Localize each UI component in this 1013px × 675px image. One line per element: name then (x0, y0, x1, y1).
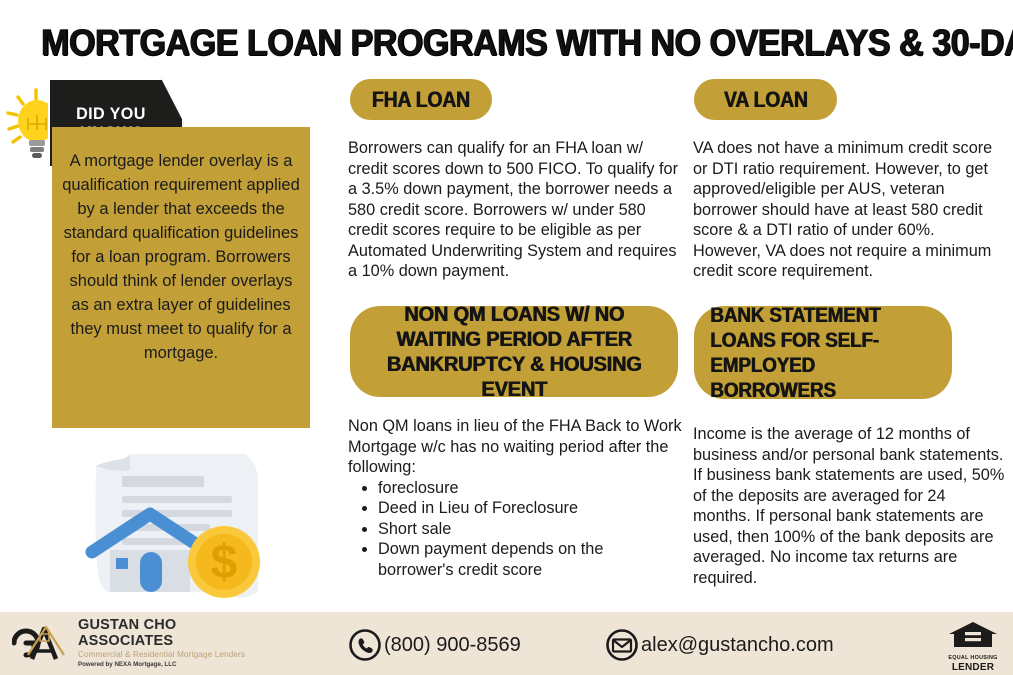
equal-housing-lender-icon (946, 620, 1000, 650)
section-body-nonqm-bullets: foreclosure Deed in Lieu of Foreclosure … (348, 478, 682, 581)
company-tagline: Commercial & Residential Mortgage Lender… (78, 649, 252, 660)
infographic-page: MORTGAGE LOAN PROGRAMS WITH NO OVERLAYS … (0, 0, 1013, 675)
company-name: GUSTAN CHO ASSOCIATES (78, 617, 252, 649)
list-item: Short sale (378, 519, 682, 540)
contact-email[interactable]: alex@gustancho.com (605, 628, 834, 662)
section-heading-bank-statement: BANK STATEMENT LOANS FOR SELF-EMPLOYED B… (694, 306, 952, 399)
section-body-fha-text: Borrowers can qualify for an FHA loan w/… (348, 138, 678, 282)
section-body-bank-statement-text: Income is the average of 12 months of bu… (693, 424, 1005, 588)
section-heading-va: VA LOAN (694, 79, 837, 120)
section-heading-nonqm: NON QM LOANS W/ NO WAITING PERIOD AFTER … (350, 306, 678, 397)
equal-housing-lender-badge: EQUAL HOUSING LENDER (946, 620, 1000, 668)
list-item: Down payment depends on the borrower's c… (378, 539, 682, 580)
section-heading-nonqm-label: NON QM LOANS W/ NO WAITING PERIOD AFTER … (375, 302, 654, 402)
section-body-va: VA does not have a minimum credit score … (693, 138, 1005, 282)
page-title: MORTGAGE LOAN PROGRAMS WITH NO OVERLAYS … (41, 22, 973, 64)
badge-line-1: DID YOU (76, 104, 155, 123)
powered-by-label: Powered by NEXA Mortgage, LLC (78, 660, 252, 669)
mortgage-document-house-coin-illustration: $ (78, 440, 310, 608)
company-logo: GUSTAN CHO ASSOCIATES Commercial & Resid… (12, 618, 252, 668)
equal-housing-line-2: LENDER (946, 662, 1000, 673)
section-body-va-text: VA does not have a minimum credit score … (693, 138, 1005, 282)
gca-monogram-logo (12, 621, 74, 665)
overlay-definition-panel: A mortgage lender overlay is a qualifica… (52, 127, 310, 428)
phone-number: (800) 900-8569 (384, 634, 521, 657)
svg-text:$: $ (211, 536, 238, 589)
envelope-icon (605, 628, 639, 662)
phone-icon (348, 628, 382, 662)
section-heading-bank-statement-label: BANK STATEMENT LOANS FOR SELF-EMPLOYED B… (710, 303, 909, 403)
contact-phone[interactable]: (800) 900-8569 (348, 628, 521, 662)
section-heading-fha-label: FHA LOAN (372, 87, 470, 113)
section-body-nonqm: Non QM loans in lieu of the FHA Back to … (348, 416, 682, 580)
section-body-nonqm-text: Non QM loans in lieu of the FHA Back to … (348, 416, 682, 478)
section-heading-va-label: VA LOAN (724, 87, 808, 113)
section-body-fha: Borrowers can qualify for an FHA loan w/… (348, 138, 678, 282)
section-heading-fha: FHA LOAN (350, 79, 492, 120)
list-item: foreclosure (378, 478, 682, 499)
equal-housing-line-1: EQUAL HOUSING (946, 655, 1000, 662)
email-address: alex@gustancho.com (641, 634, 834, 657)
overlay-definition-text: A mortgage lender overlay is a qualifica… (62, 149, 300, 365)
list-item: Deed in Lieu of Foreclosure (378, 498, 682, 519)
section-body-bank-statement: Income is the average of 12 months of bu… (693, 424, 1005, 588)
